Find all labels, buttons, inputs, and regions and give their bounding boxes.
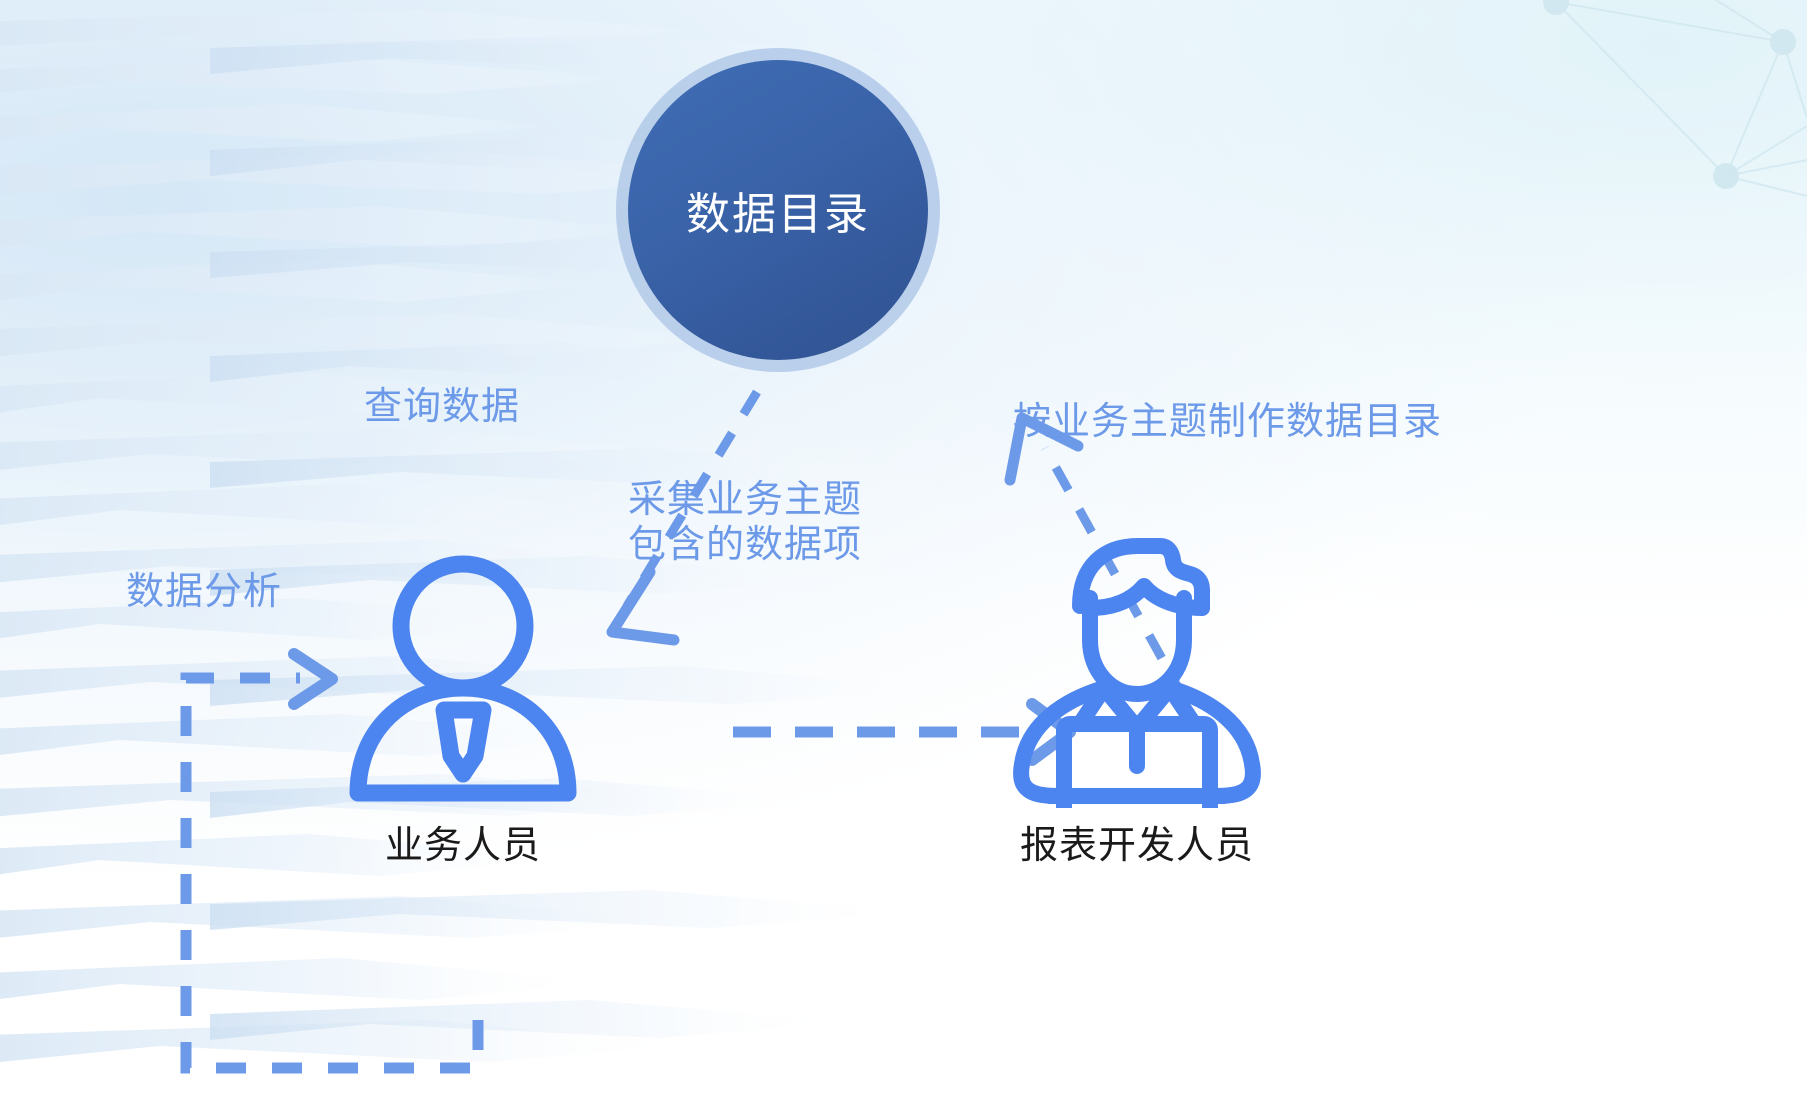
diagram-canvas: 数据目录 查询数据 数据分析 采集业务主题 包含的数据项 按业务主题制作数据目录…	[0, 0, 1807, 1117]
edge-label-query-data: 查询数据	[364, 385, 520, 430]
actor-business-person[interactable]: 业务人员	[338, 548, 588, 869]
data-catalog-node[interactable]: 数据目录	[628, 60, 928, 360]
actor-report-developer[interactable]: 报表开发人员	[992, 528, 1282, 869]
edge-label-collect-items-line1: 采集业务主题	[628, 478, 862, 523]
actor-business-person-label: 业务人员	[385, 814, 541, 869]
edge-label-collect-items: 采集业务主题 包含的数据项	[628, 478, 862, 568]
edge-label-collect-items-line2: 包含的数据项	[628, 523, 862, 568]
data-catalog-label: 数据目录	[686, 178, 870, 242]
edge-label-data-analysis: 数据分析	[126, 570, 282, 615]
developer-laptop-icon	[992, 528, 1282, 808]
business-person-icon	[338, 548, 588, 808]
actor-report-developer-label: 报表开发人员	[1020, 814, 1254, 869]
edge-label-build-catalog: 按业务主题制作数据目录	[1013, 400, 1442, 445]
